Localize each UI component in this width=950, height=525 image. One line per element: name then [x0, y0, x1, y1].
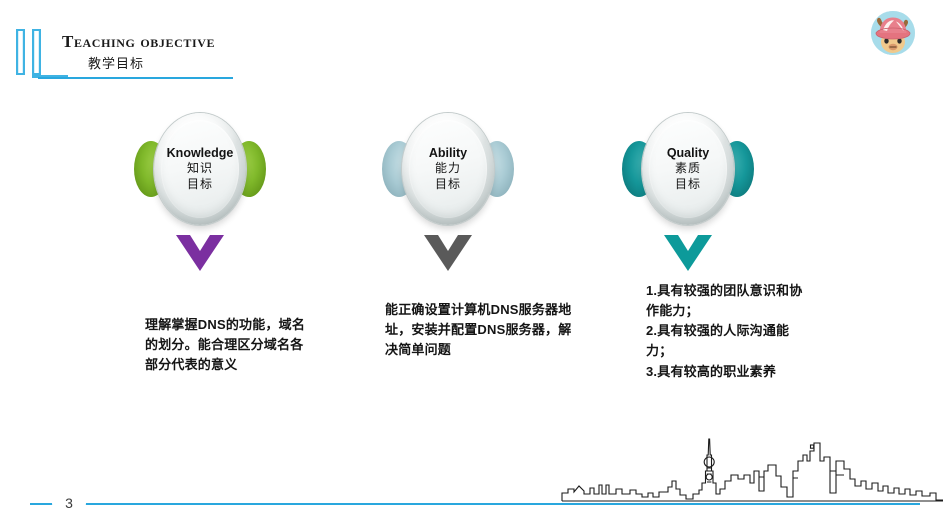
- objective-body-knowledge: 理解掌握DNS的功能，域名的划分。能合理区分域名各部分代表的意义: [145, 315, 308, 375]
- orb-title-cn-2: 目标: [675, 176, 701, 192]
- footer-divider: [30, 503, 920, 505]
- orb-title-cn-2: 目标: [435, 176, 461, 192]
- city-skyline-icon: [560, 431, 945, 503]
- orb-title-cn-2: 目标: [187, 176, 213, 192]
- orb-quality: Quality 素质 目标: [628, 113, 748, 225]
- page-number: 3: [52, 486, 86, 520]
- orb-sphere: Quality 素质 目标: [642, 113, 734, 225]
- orb-title-en: Ability: [429, 146, 467, 160]
- chevron-down-icon: [662, 233, 714, 273]
- orb-title-en: Knowledge: [167, 146, 234, 160]
- orb-knowledge: Knowledge 知识 目标: [140, 113, 260, 225]
- orb-title-cn-1: 能力: [435, 160, 461, 176]
- objective-body-quality: 1.具有较强的团队意识和协作能力； 2.具有较强的人际沟通能力； 3.具有较高的…: [646, 281, 806, 382]
- orb-title-cn-1: 素质: [675, 160, 701, 176]
- orb-sphere: Ability 能力 目标: [402, 113, 494, 225]
- orb-ability: Ability 能力 目标: [388, 113, 508, 225]
- orb-title-cn-1: 知识: [187, 160, 213, 176]
- orb-sphere: Knowledge 知识 目标: [154, 113, 246, 225]
- chevron-down-icon: [422, 233, 474, 273]
- orb-title-en: Quality: [667, 146, 709, 160]
- objective-body-ability: 能正确设置计算机DNS服务器地址，安装并配置DNS服务器，解决简单问题: [385, 300, 581, 360]
- slide-canvas: Teaching objective 教学目标: [0, 0, 950, 525]
- chevron-down-icon: [174, 233, 226, 273]
